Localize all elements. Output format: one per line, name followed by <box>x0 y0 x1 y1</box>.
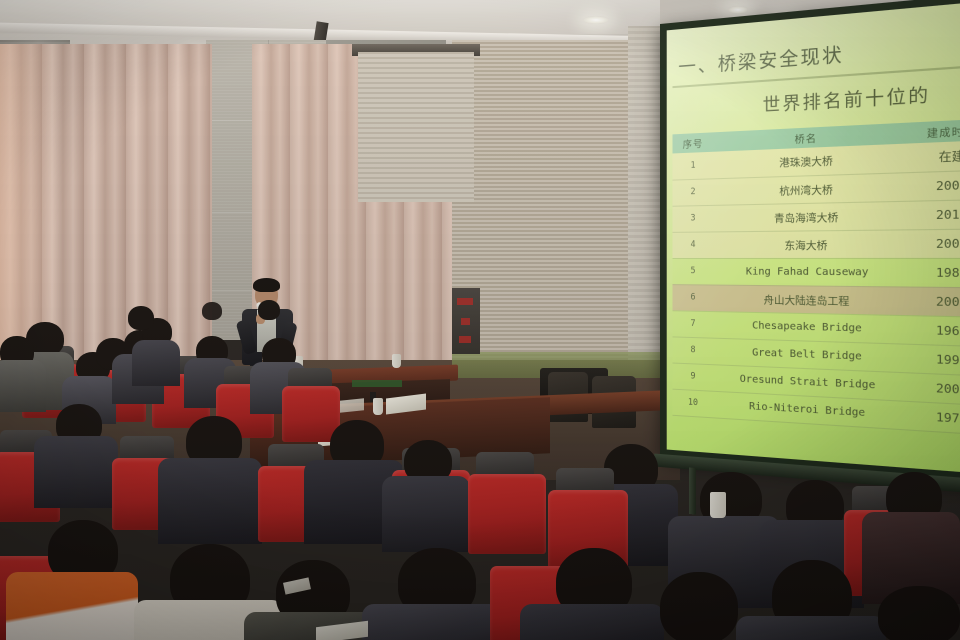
cell-year: 2008 <box>905 169 960 201</box>
table-row: 4 东海大桥 2005 <box>672 228 960 258</box>
cell-no: 8 <box>672 336 713 364</box>
audience-head <box>128 306 154 330</box>
cell-year: 2011 <box>905 199 960 230</box>
slide-title: 一、桥梁安全现状 <box>678 40 844 80</box>
cell-name: 舟山大陆连岛工程 <box>714 285 905 315</box>
cell-year: 1974 <box>905 401 960 436</box>
downlight-icon <box>728 6 748 14</box>
cell-name: 东海大桥 <box>714 229 905 258</box>
audience-head <box>660 572 738 640</box>
audience-head <box>878 586 960 640</box>
seat <box>468 474 546 554</box>
podium-nameplate <box>352 380 402 387</box>
wall-sign <box>452 288 480 354</box>
cell-name: 青岛海湾大桥 <box>714 201 905 232</box>
slide-surface: 一、桥梁安全现状 世界排名前十位的 序号 桥名 建成时间 1 <box>667 1 960 474</box>
cell-year: 1964 <box>905 315 960 347</box>
table-body: 1 港珠澳大桥 在建 2 杭州湾大桥 2008 3 青岛海湾大桥 201 <box>672 140 960 436</box>
cell-name: King Fahad Causeway <box>714 258 905 287</box>
audience-body <box>520 604 664 640</box>
speaker-hair <box>253 278 280 292</box>
cell-no: 7 <box>672 310 713 337</box>
window-blind <box>358 52 474 202</box>
table-row: 5 King Fahad Causeway 1986 <box>672 258 960 288</box>
audience-body <box>6 572 138 640</box>
audience-body <box>158 458 262 544</box>
audience-body <box>132 340 180 386</box>
cell-year: 1997 <box>905 344 960 377</box>
slide-subtitle: 世界排名前十位的 <box>763 79 931 116</box>
cell-no: 3 <box>672 205 713 232</box>
paper-cup <box>710 492 726 518</box>
cell-no: 6 <box>672 284 713 311</box>
cell-no: 2 <box>672 178 713 205</box>
audience-body <box>736 616 886 640</box>
paper-cup <box>373 398 383 415</box>
cell-year: 1986 <box>905 258 960 288</box>
audience-body <box>382 476 470 552</box>
cell-no: 10 <box>672 389 713 418</box>
column-header-year: 建成时间 <box>905 118 960 144</box>
audience-body <box>34 436 118 508</box>
column-header-no: 序号 <box>672 132 713 153</box>
cell-name: 杭州湾大桥 <box>714 172 905 205</box>
lecture-hall-photo: 一、桥梁安全现状 世界排名前十位的 序号 桥名 建成时间 1 <box>0 0 960 640</box>
downlight-icon <box>583 16 609 24</box>
audience-body <box>0 360 46 412</box>
bridge-ranking-table: 序号 桥名 建成时间 1 港珠澳大桥 在建 2 杭州湾大 <box>672 118 960 436</box>
screen-frame: 一、桥梁安全现状 世界排名前十位的 序号 桥名 建成时间 1 <box>660 0 960 483</box>
screen-leg <box>689 467 696 514</box>
cell-no: 9 <box>672 363 713 391</box>
cell-no: 4 <box>672 231 713 258</box>
audience-body <box>362 604 508 640</box>
cell-year: 在建 <box>905 140 960 173</box>
cell-no: 1 <box>672 152 713 180</box>
audience-head <box>258 300 280 320</box>
projection-screen: 一、桥梁安全现状 世界排名前十位的 序号 桥名 建成时间 1 <box>660 0 960 526</box>
audience-head <box>202 302 222 320</box>
paper-cup <box>392 354 401 368</box>
cell-year: 2009 <box>905 286 960 317</box>
cell-year: 2005 <box>905 228 960 258</box>
cell-no: 5 <box>672 258 713 285</box>
